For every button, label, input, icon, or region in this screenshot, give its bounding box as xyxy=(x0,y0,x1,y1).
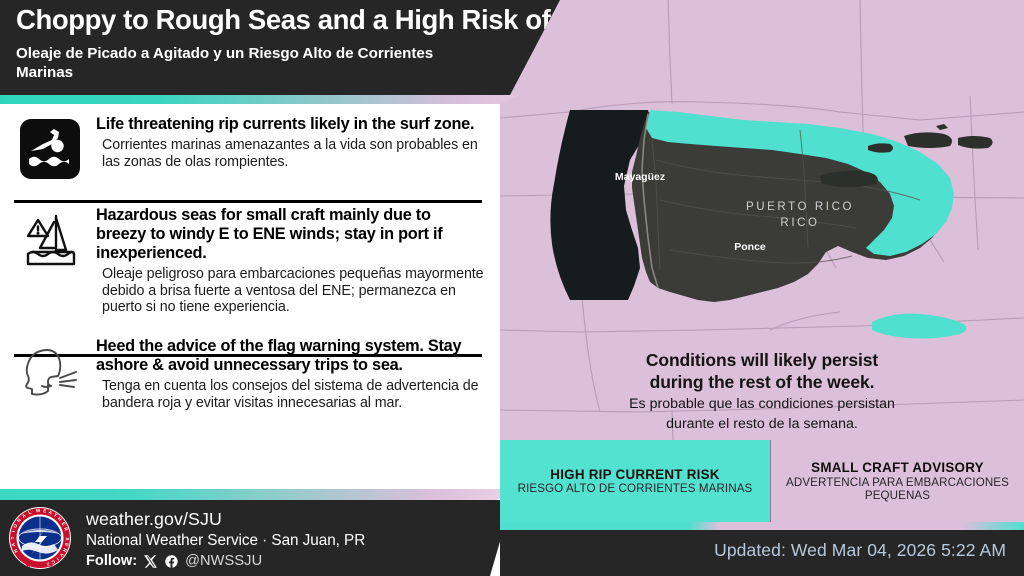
footer: N A T I O N A L W E A T H E R S E R V I xyxy=(0,500,512,576)
page-title-en: Choppy to Rough Seas and a High Risk of … xyxy=(16,5,546,35)
bullet-3-en: Heed the advice of the flag warning syst… xyxy=(96,337,484,375)
legend-rip-en: HIGH RIP CURRENT RISK xyxy=(550,467,719,482)
sailboat-warning-icon xyxy=(14,204,86,276)
bullet-2-en: Hazardous seas for small craft mainly du… xyxy=(96,206,484,263)
hazard-bullet-flag-warning-text: Heed the advice of the flag warning syst… xyxy=(86,335,484,412)
timestamp-bar: Updated: Wed Mar 04, 2026 5:22 AM xyxy=(500,522,1024,576)
hazard-bullet-list: Life threatening rip currents likely in … xyxy=(0,106,500,419)
footer-website[interactable]: weather.gov/SJU xyxy=(86,509,222,530)
updated-timestamp: Updated: Wed Mar 04, 2026 5:22 AM xyxy=(500,540,1006,561)
nws-seal-icon: N A T I O N A L W E A T H E R S E R V I xyxy=(8,506,72,570)
legend-sca-en: SMALL CRAFT ADVISORY xyxy=(811,460,984,475)
bullet-2-es: Oleaje peligroso para embarcaciones pequ… xyxy=(96,266,484,317)
hazard-bullet-small-craft: Hazardous seas for small craft mainly du… xyxy=(0,192,500,323)
map-statement-en-line1: Conditions will likely persist xyxy=(500,350,1024,372)
map-label-mayaguez: Mayagüez xyxy=(615,171,665,183)
map-statement: Conditions will likely persist during th… xyxy=(500,350,1024,433)
bullet-3-es: Tenga en cuenta los consejos del sistema… xyxy=(96,378,484,412)
timestamp-accent-stripe xyxy=(500,522,1024,530)
legend-sca-es: ADVERTENCIA PARA EMBARCACIONES PEQUENAS xyxy=(777,476,1018,502)
map-statement-en-line2: during the rest of the week. xyxy=(500,372,1024,394)
footer-social-handle: @NWSSJU xyxy=(185,553,262,569)
svg-text:S: S xyxy=(65,537,70,540)
map-label-territory-line2: RICO xyxy=(780,217,819,229)
swimmer-rip-current-icon xyxy=(14,113,86,185)
svg-text:T: T xyxy=(10,536,15,539)
bullet-1-es: Corrientes marinas amenazantes a la vida… xyxy=(96,137,484,171)
x-twitter-icon[interactable] xyxy=(143,554,158,569)
legend-item-small-craft-advisory: SMALL CRAFT ADVISORY ADVERTENCIA PARA EM… xyxy=(770,440,1024,522)
footer-follow-label: Follow: xyxy=(86,553,137,569)
bullet-1-en: Life threatening rip currents likely in … xyxy=(96,115,484,134)
title-accent-stripe xyxy=(0,95,520,104)
map-statement-es-line1: Es probable que las condiciones persista… xyxy=(500,395,1024,413)
page-title-es: Oleaje de Picado a Agitado y un Riesgo A… xyxy=(16,44,486,82)
hazard-bullet-rip-currents-text: Life threatening rip currents likely in … xyxy=(86,113,484,171)
map-label-ponce: Ponce xyxy=(734,241,766,253)
hazard-bullet-flag-warning: Heed the advice of the flag warning syst… xyxy=(0,323,500,419)
legend-rip-es: RIESGO ALTO DE CORRIENTES MARINAS xyxy=(518,482,753,495)
footer-accent-stripe xyxy=(0,489,516,500)
map-label-territory: PUERTO RICO xyxy=(746,201,854,213)
footer-follow-row: Follow: @NWSSJU xyxy=(86,553,262,569)
map-legend: HIGH RIP CURRENT RISK RIESGO ALTO DE COR… xyxy=(500,440,1024,522)
legend-item-high-rip-current-risk: HIGH RIP CURRENT RISK RIESGO ALTO DE COR… xyxy=(500,440,770,522)
facebook-icon[interactable] xyxy=(164,554,179,569)
hazard-bullet-rip-currents: Life threatening rip currents likely in … xyxy=(0,106,500,192)
speaking-head-icon xyxy=(14,335,86,407)
hazard-bullet-small-craft-text: Hazardous seas for small craft mainly du… xyxy=(86,204,484,316)
map-statement-es-line2: durante el resto de la semana. xyxy=(500,415,1024,433)
footer-office-name: National Weather Service · San Juan, PR xyxy=(86,532,365,550)
title-block: Choppy to Rough Seas and a High Risk of … xyxy=(0,0,560,95)
